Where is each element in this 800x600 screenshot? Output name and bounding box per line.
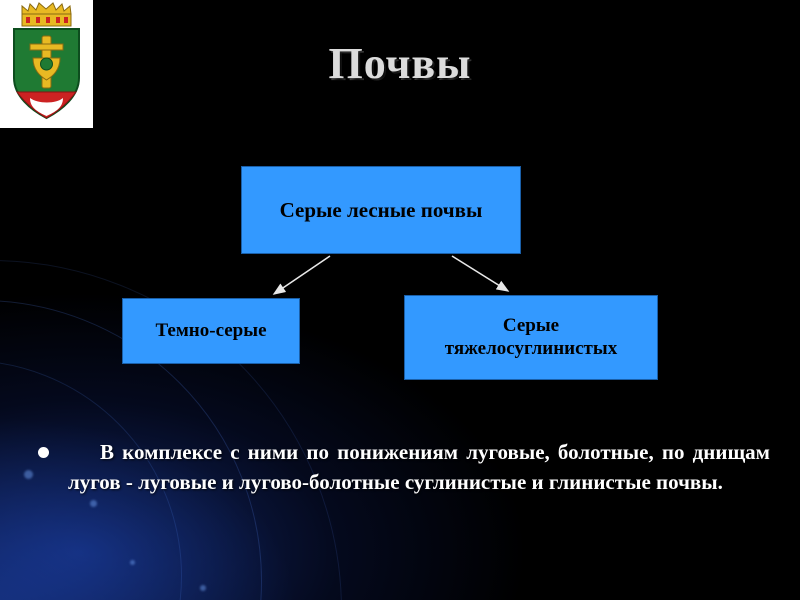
slide: Почвы Серые лесные почвы Темно-серые Сер…: [0, 0, 800, 600]
bullet-marker-icon: [38, 447, 49, 458]
body-paragraph: В комплексе с ними по понижениям луговые…: [68, 437, 770, 498]
diagram-box-left-label: Темно-серые: [155, 320, 266, 342]
decorative-dot: [90, 500, 97, 507]
diagram-box-top[interactable]: Серые лесные почвы: [241, 166, 521, 254]
page-title: Почвы: [0, 38, 800, 89]
body-bullet-block: В комплексе с ними по понижениям луговые…: [30, 437, 770, 498]
decorative-dot: [130, 560, 135, 565]
diagram-box-right[interactable]: Серые тяжелосуглинистых: [404, 295, 658, 380]
diagram-box-right-label-line1: Серые: [503, 315, 559, 337]
diagram-box-right-label-line2: тяжелосуглинистых: [445, 338, 617, 360]
decorative-dot: [200, 585, 206, 591]
diagram-connectors: [0, 0, 800, 600]
diagram-box-left[interactable]: Темно-серые: [122, 298, 300, 364]
diagram-box-top-label: Серые лесные почвы: [280, 198, 483, 223]
